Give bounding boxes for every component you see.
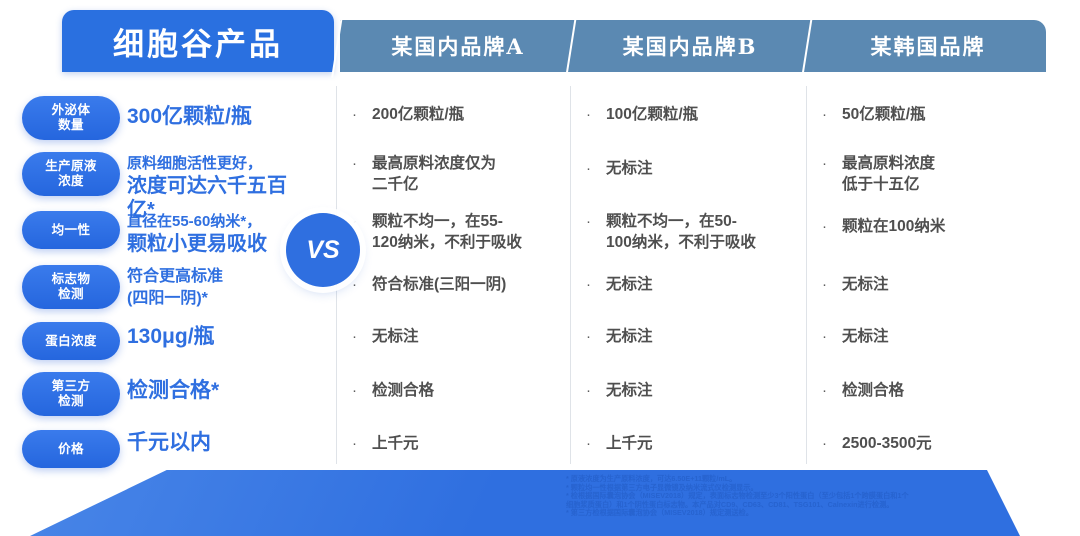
row-label-third-party-test: 第三方 检测	[22, 372, 120, 416]
main-value-line2: (四阳一阴)*	[127, 288, 287, 310]
brand-a-value: 颗粒不均一，在55- 120纳米，不利于吸收	[372, 211, 522, 253]
bullet-icon: ·	[586, 380, 606, 401]
main-value-text: 300亿颗粒/瓶	[127, 104, 287, 130]
vs-badge-label: VS	[306, 236, 339, 265]
brand-b-row-4: · 无标注	[586, 274, 802, 295]
brand-b-row-3: · 颗粒不均一，在50- 100纳米，不利于吸收	[586, 211, 802, 253]
bullet-icon: ·	[586, 433, 606, 454]
brand-kr-row-5: · 无标注	[822, 326, 1042, 347]
bullet-icon: ·	[822, 153, 842, 174]
bullet-icon: ·	[822, 216, 842, 237]
brand-a-value: 上千元	[372, 433, 419, 454]
footnotes-block: * 原液浓度为生产原料浓度，可达6.50E+11颗粒/mL。 * 颗粒均一性根据…	[566, 475, 1066, 518]
header-brand-kr-title: 某韩国品牌	[871, 31, 986, 61]
brand-a-value: 检测合格	[372, 380, 434, 401]
bullet-icon: ·	[822, 326, 842, 347]
bullet-icon: ·	[822, 433, 842, 454]
row-label-text: 标志物 检测	[52, 272, 91, 302]
brand-kr-value: 50亿颗粒/瓶	[842, 104, 926, 125]
row-label-text: 价格	[58, 442, 84, 457]
bullet-icon: ·	[586, 104, 606, 125]
main-value-exosome-count: 300亿颗粒/瓶	[127, 104, 287, 130]
bullet-icon: ·	[352, 433, 372, 454]
brand-b-value: 无标注	[606, 380, 653, 401]
brand-b-value: 上千元	[606, 433, 653, 454]
bullet-icon: ·	[352, 326, 372, 347]
main-value-line1: 直径在55-60纳米*，	[127, 213, 261, 230]
bullet-icon: ·	[822, 274, 842, 295]
header-brand-b: 某国内品牌B	[576, 20, 804, 72]
row-label-text: 蛋白浓度	[45, 334, 97, 349]
bullet-icon: ·	[352, 211, 372, 232]
brand-kr-row-6: · 检测合格	[822, 380, 1042, 401]
row-label-stock-concentration: 生产原液 浓度	[22, 152, 120, 196]
comparison-infographic: 细胞谷产品 某国内品牌A 某国内品牌B 某韩国品牌 外泌体 数量 生产原液 浓度…	[0, 0, 1080, 536]
main-value-line1: 符合更高标准	[127, 266, 287, 288]
brand-kr-row-1: · 50亿颗粒/瓶	[822, 104, 1042, 125]
row-label-uniformity: 均一性	[22, 211, 120, 249]
main-value-text: 千元以内	[127, 430, 287, 456]
bullet-icon: ·	[586, 211, 606, 232]
brand-kr-value: 检测合格	[842, 380, 904, 401]
brand-a-row-5: · 无标注	[352, 326, 567, 347]
main-value-uniformity: 直径在55-60纳米*， 颗粒小更易吸收	[127, 211, 287, 257]
brand-b-value: 无标注	[606, 326, 653, 347]
brand-a-row-6: · 检测合格	[352, 380, 567, 401]
brand-b-row-1: · 100亿颗粒/瓶	[586, 104, 802, 125]
brand-kr-value: 无标注	[842, 274, 889, 295]
brand-b-value: 无标注	[606, 158, 653, 179]
main-value-text: 130μg/瓶	[127, 324, 287, 350]
brand-kr-row-2: · 最高原料浓度 低于十五亿	[822, 153, 1042, 195]
brand-a-value: 符合标准(三阳一阴)	[372, 274, 506, 295]
row-label-text: 第三方 检测	[52, 379, 91, 409]
brand-kr-row-3: · 颗粒在100纳米	[822, 216, 1042, 237]
brand-b-value: 颗粒不均一，在50- 100纳米，不利于吸收	[606, 211, 756, 253]
row-label-exosome-count: 外泌体 数量	[22, 96, 120, 140]
brand-kr-value: 颗粒在100纳米	[842, 216, 945, 237]
main-value-marker-test: 符合更高标准 (四阳一阴)*	[127, 266, 287, 310]
bullet-icon: ·	[352, 274, 372, 295]
brand-a-row-3: · 颗粒不均一，在55- 120纳米，不利于吸收	[352, 211, 567, 253]
row-label-text: 生产原液 浓度	[45, 159, 97, 189]
main-value-protein-concentration: 130μg/瓶	[127, 324, 287, 350]
main-value-third-party-test: 检测合格*	[127, 378, 287, 404]
main-value-line1: 原料细胞活性更好，	[127, 155, 262, 172]
brand-b-row-2: · 无标注	[586, 158, 802, 179]
main-value-line2: 颗粒小更易吸收	[127, 233, 267, 255]
header-brand-kr: 某韩国品牌	[812, 20, 1044, 72]
brand-b-value: 无标注	[606, 274, 653, 295]
column-separator-2	[570, 86, 571, 464]
bullet-icon: ·	[586, 274, 606, 295]
brand-a-value: 最高原料浓度仅为 二千亿	[372, 153, 496, 195]
brand-kr-value: 最高原料浓度 低于十五亿	[842, 153, 935, 195]
brand-kr-value: 2500-3500元	[842, 433, 932, 454]
row-label-price: 价格	[22, 430, 120, 468]
brand-a-row-2: · 最高原料浓度仅为 二千亿	[352, 153, 567, 195]
brand-b-value: 100亿颗粒/瓶	[606, 104, 698, 125]
brand-a-value: 200亿颗粒/瓶	[372, 104, 464, 125]
bullet-icon: ·	[822, 104, 842, 125]
header-main-title: 细胞谷产品	[113, 19, 283, 64]
bullet-icon: ·	[352, 380, 372, 401]
column-separator-3	[806, 86, 807, 464]
footnote-line: * 第三方检根据国际囊泡协会（MISEV2018）规定测送检。	[566, 509, 1066, 518]
brand-b-row-7: · 上千元	[586, 433, 802, 454]
row-label-text: 外泌体 数量	[52, 103, 91, 133]
brand-b-row-5: · 无标注	[586, 326, 802, 347]
brand-a-value: 无标注	[372, 326, 419, 347]
bullet-icon: ·	[586, 326, 606, 347]
main-value-text: 检测合格*	[127, 378, 287, 404]
bullet-icon: ·	[586, 158, 606, 179]
row-label-protein-concentration: 蛋白浓度	[22, 322, 120, 360]
brand-a-row-1: · 200亿颗粒/瓶	[352, 104, 567, 125]
brand-a-row-4: · 符合标准(三阳一阴)	[352, 274, 567, 295]
row-label-text: 均一性	[52, 223, 91, 238]
bullet-icon: ·	[352, 104, 372, 125]
brand-kr-row-4: · 无标注	[822, 274, 1042, 295]
brand-a-row-7: · 上千元	[352, 433, 567, 454]
row-label-marker-test: 标志物 检测	[22, 265, 120, 309]
header-brand-a: 某国内品牌A	[344, 20, 572, 72]
header-brand-b-title: 某国内品牌B	[623, 31, 758, 61]
header-brand-a-title: 某国内品牌A	[391, 31, 524, 61]
bullet-icon: ·	[352, 153, 372, 174]
brand-kr-row-7: · 2500-3500元	[822, 433, 1042, 454]
header-main-product: 细胞谷产品	[62, 10, 334, 72]
bullet-icon: ·	[822, 380, 842, 401]
main-value-price: 千元以内	[127, 430, 287, 456]
brand-kr-value: 无标注	[842, 326, 889, 347]
vs-badge: VS	[286, 213, 360, 287]
brand-b-row-6: · 无标注	[586, 380, 802, 401]
